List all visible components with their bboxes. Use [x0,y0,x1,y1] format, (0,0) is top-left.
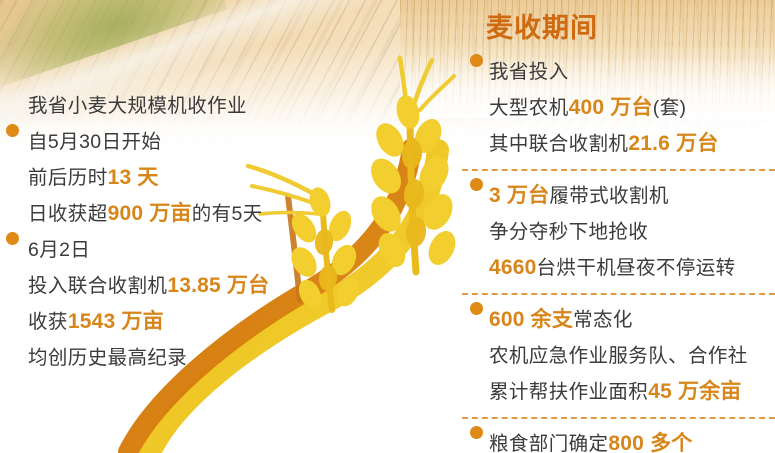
left-panel-intro: 我省小麦大规模机收作业 [0,88,300,124]
text-run: 的有 [192,203,232,225]
dashed-separator [462,293,775,295]
bullet-icon [470,426,483,439]
bulleted-line: 6月2日 [0,232,300,268]
text-run: 日收获超 [28,203,108,225]
bulleted-line: 我省投入 [462,54,775,90]
text-run: 投入联合收割机 [28,275,167,297]
content-block: 我省投入大型农机400 万台(套)其中联合收割机21.6 万台 [462,54,775,162]
content-block: 6月2日投入联合收割机13.85 万台收获1543 万亩均创历史最高纪录 [0,232,300,376]
text-run: 其中联合收割机 [489,133,628,155]
highlight-number: 600 余支 [489,308,573,331]
text-run: 均创历史最高纪录 [28,347,187,369]
text-line: 争分夺秒下地抢收 [462,214,775,250]
text-run: 农机应急作业服务队、合作社 [489,345,748,367]
left-panel-blocks: 自5月30日开始前后历时13 天日收获超900 万亩的有5天6月2日投入联合收割… [0,124,300,376]
text-run: 前后历时 [28,167,108,189]
text-run: 累计帮扶作业面积 [489,381,648,403]
dashed-separator [462,169,775,171]
highlight-number: 4660 [489,256,537,279]
text-run: 5 [232,203,243,225]
text-run: 我省投入 [489,61,569,83]
bulleted-line: 粮食部门确定800 多个 [462,426,775,453]
bullet-icon [470,302,483,315]
text-line: 大型农机400 万台(套) [462,90,775,126]
text-run: 大型农机 [489,97,569,119]
text-run: 6 [28,239,39,261]
text-run: 5 [48,131,59,153]
text-line: 日收获超900 万亩的有5天 [0,196,300,232]
highlight-number: 800 多个 [608,432,692,453]
text-run: 2 [59,239,70,261]
text-run: 常态化 [573,309,633,331]
text-line: 其中联合收割机21.6 万台 [462,126,775,162]
bulleted-line: 600 余支常态化 [462,302,775,338]
bullet-icon [6,232,19,245]
highlight-number: 21.6 万台 [628,132,718,155]
text-line: 累计帮扶作业面积45 万余亩 [462,374,775,410]
text-line: 4660台烘干机昼夜不停运转 [462,250,775,286]
text-line: 农机应急作业服务队、合作社 [462,338,775,374]
highlight-number: 13 天 [108,166,159,189]
text-run: 月 [39,239,59,261]
bullet-icon [470,54,483,67]
bulleted-line: 3 万台履带式收割机 [462,178,775,214]
page-title: 麦收期间 [486,14,775,44]
highlight-number: 3 万台 [489,184,549,207]
text-line: 均创历史最高纪录 [0,340,300,376]
text-run: 台烘干机昼夜不停运转 [537,257,736,279]
right-panel-blocks: 我省投入大型农机400 万台(套)其中联合收割机21.6 万台3 万台履带式收割… [462,54,775,453]
highlight-number: 13.85 万台 [167,274,269,297]
text-line: 收获1543 万亩 [0,304,300,340]
bulleted-line: 自5月30日开始 [0,124,300,160]
infographic-root: 我省小麦大规模机收作业 自5月30日开始前后历时13 天日收获超900 万亩的有… [0,0,775,453]
text-run: 日开始 [102,131,162,153]
highlight-number: 400 万台 [569,96,653,119]
text-run: 日 [70,239,90,261]
content-block: 粮食部门确定800 多个收储库点 [462,426,775,453]
text-run: 争分夺秒下地抢收 [489,221,648,243]
bullet-icon [6,124,19,137]
wheat-ear-large-icon [365,58,461,272]
content-block: 3 万台履带式收割机争分夺秒下地抢收4660台烘干机昼夜不停运转 [462,178,775,286]
right-panel: 麦收期间 我省投入大型农机400 万台(套)其中联合收割机21.6 万台3 万台… [462,14,775,453]
text-run: 30 [79,131,102,153]
highlight-number: 1543 万亩 [68,310,164,333]
text-run: 天 [243,203,263,225]
background-vegetation-patch [0,0,227,90]
text-line: 前后历时13 天 [0,160,300,196]
text-line: 投入联合收割机13.85 万台 [0,268,300,304]
text-run: 月 [59,131,79,153]
dashed-separator [462,417,775,419]
text-run: 粮食部门确定 [489,433,608,453]
content-block: 自5月30日开始前后历时13 天日收获超900 万亩的有5天 [0,124,300,232]
text-run: 履带式收割机 [549,185,668,207]
text-run: (套) [653,97,687,119]
text-run: 收获 [28,311,68,333]
left-panel: 我省小麦大规模机收作业 自5月30日开始前后历时13 天日收获超900 万亩的有… [0,88,300,376]
content-block: 600 余支常态化农机应急作业服务队、合作社累计帮扶作业面积45 万余亩 [462,302,775,410]
highlight-number: 900 万亩 [108,202,192,225]
bullet-icon [470,178,483,191]
highlight-number: 45 万余亩 [648,380,741,403]
text-run: 自 [28,131,48,153]
